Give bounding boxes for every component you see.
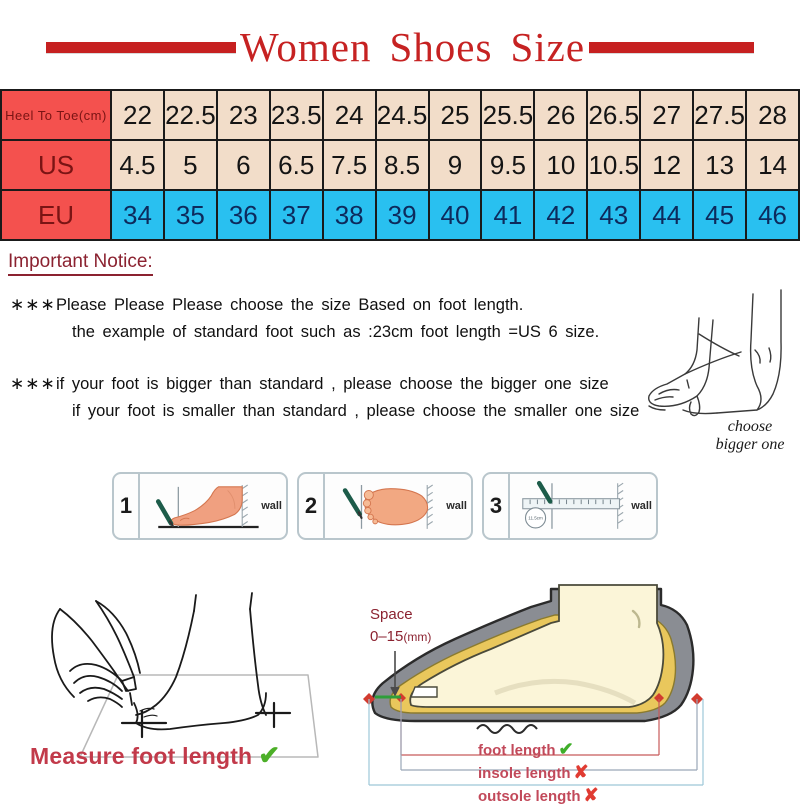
step-2-wall-label: wall [446, 500, 467, 512]
cell-cm-11: 27.5 [693, 90, 746, 140]
cell-us-9: 10.5 [587, 140, 640, 190]
cell-eu-1: 35 [164, 190, 217, 240]
title-rule-right [589, 42, 754, 53]
cell-us-2: 6 [217, 140, 270, 190]
cell-us-12: 14 [746, 140, 799, 190]
size-chart-table: Heel To Toe(cm) 22 22.5 23 23.5 24 24.5 … [0, 89, 800, 241]
notice-1-line-2: the example of standard foot such as :23… [56, 319, 599, 346]
step-number-1: 1 [114, 474, 140, 538]
notice-2-line-1: if your foot is bigger than standard , p… [56, 375, 609, 393]
feet-caption-line-2: bigger one [716, 436, 785, 453]
step-1-illustration: wall [140, 474, 286, 538]
table-row-us: US 4.5 5 6 6.5 7.5 8.5 9 9.5 10 10.5 12 … [1, 140, 799, 190]
measure-foot-length-caption: Measure foot length✔ [30, 740, 280, 771]
foot-length-label-row: foot length✔ [478, 738, 599, 761]
cell-us-8: 10 [534, 140, 587, 190]
space-gap-label: Space 0–15(mm) [370, 604, 431, 648]
foot-length-check-icon: ✔ [558, 739, 573, 759]
row-label-eu: EU [1, 190, 111, 240]
asterisk-marker-1: ∗∗∗ [10, 292, 56, 318]
feet-illustration-caption: choose bigger one [700, 418, 800, 455]
measuring-steps-group: 1 [112, 472, 658, 540]
cell-eu-9: 43 [587, 190, 640, 240]
step-box-2: 2 [297, 472, 473, 540]
cell-us-6: 9 [429, 140, 482, 190]
asterisk-marker-2: ∗∗∗ [10, 371, 56, 397]
cell-us-3: 6.5 [270, 140, 323, 190]
cell-cm-10: 27 [640, 90, 693, 140]
cell-us-5: 8.5 [376, 140, 429, 190]
notice-1-line-1: Please Please Please choose the size Bas… [56, 296, 523, 314]
cell-cm-12: 28 [746, 90, 799, 140]
cell-eu-12: 46 [746, 190, 799, 240]
cell-us-10: 12 [640, 140, 693, 190]
notice-item-1: ∗∗∗ Please Please Please choose the size… [10, 292, 690, 345]
step-3-illustration: 11.5cm wall [510, 474, 656, 538]
outsole-length-label-row: outsole length✘ [478, 784, 599, 807]
notice-2-line-2: if your foot is smaller than standard , … [56, 398, 639, 425]
table-row-eu: EU 34 35 36 37 38 39 40 41 42 43 44 45 4… [1, 190, 799, 240]
foot-length-label: foot length [478, 742, 555, 759]
feet-caption-line-1: choose [728, 418, 772, 435]
outsole-length-cross-icon: ✘ [584, 785, 599, 805]
step-number-2: 2 [299, 474, 325, 538]
page-title: WomenShoesSize [240, 27, 585, 68]
cell-eu-7: 41 [481, 190, 534, 240]
cell-us-7: 9.5 [481, 140, 534, 190]
cell-cm-8: 26 [534, 90, 587, 140]
title-word-women: Women [240, 24, 372, 70]
step-box-1: 1 [112, 472, 288, 540]
cell-eu-6: 40 [429, 190, 482, 240]
step-box-3: 3 [482, 472, 658, 540]
cell-cm-3: 23.5 [270, 90, 323, 140]
ruler-badge-text: 11.5cm [528, 516, 543, 521]
step-1-wall-label: wall [261, 500, 282, 512]
space-value-text: 0–15 [370, 628, 403, 645]
title-word-shoes: Shoes [389, 24, 492, 70]
cell-eu-5: 39 [376, 190, 429, 240]
notice-item-2: ∗∗∗ if your foot is bigger than standard… [10, 371, 690, 424]
measure-caption-text: Measure foot length [30, 743, 252, 769]
notice-item-1-text: Please Please Please choose the size Bas… [56, 292, 599, 345]
shoe-measurement-labels: foot length✔ insole length✘ outsole leng… [478, 738, 599, 807]
cell-cm-0: 22 [111, 90, 164, 140]
step-2-illustration: wall [325, 474, 471, 538]
notice-spacer [10, 349, 690, 371]
row-label-heel-to-toe: Heel To Toe(cm) [1, 90, 111, 140]
cell-eu-4: 38 [323, 190, 376, 240]
space-unit-text: (mm) [403, 630, 431, 644]
table-row-heel-to-toe: Heel To Toe(cm) 22 22.5 23 23.5 24 24.5 … [1, 90, 799, 140]
row-label-us: US [1, 140, 111, 190]
cell-cm-2: 23 [217, 90, 270, 140]
cell-eu-11: 45 [693, 190, 746, 240]
insole-length-label: insole length [478, 765, 571, 782]
notice-item-2-text: if your foot is bigger than standard , p… [56, 371, 639, 424]
cell-us-0: 4.5 [111, 140, 164, 190]
insole-length-cross-icon: ✘ [574, 762, 589, 782]
important-notice-body: ∗∗∗ Please Please Please choose the size… [10, 292, 690, 429]
cell-us-1: 5 [164, 140, 217, 190]
cell-cm-4: 24 [323, 90, 376, 140]
cell-eu-10: 44 [640, 190, 693, 240]
check-icon: ✔ [258, 740, 280, 770]
cell-cm-6: 25 [429, 90, 482, 140]
title-rule-left [46, 42, 236, 53]
title-word-size: Size [510, 24, 585, 70]
cell-eu-2: 36 [217, 190, 270, 240]
outsole-length-label: outsole length [478, 788, 581, 805]
cell-eu-3: 37 [270, 190, 323, 240]
cell-cm-9: 26.5 [587, 90, 640, 140]
step-number-3: 3 [484, 474, 510, 538]
page-title-bar: WomenShoesSize [0, 20, 800, 74]
insole-length-label-row: insole length✘ [478, 761, 599, 784]
cell-cm-1: 22.5 [164, 90, 217, 140]
cell-cm-5: 24.5 [376, 90, 429, 140]
cell-eu-0: 34 [111, 190, 164, 240]
cell-us-11: 13 [693, 140, 746, 190]
important-notice-heading: Important Notice: [8, 252, 153, 276]
cell-eu-8: 42 [534, 190, 587, 240]
space-label-text: Space [370, 606, 413, 623]
cell-us-4: 7.5 [323, 140, 376, 190]
step-3-wall-label: wall [631, 500, 652, 512]
cell-cm-7: 25.5 [481, 90, 534, 140]
